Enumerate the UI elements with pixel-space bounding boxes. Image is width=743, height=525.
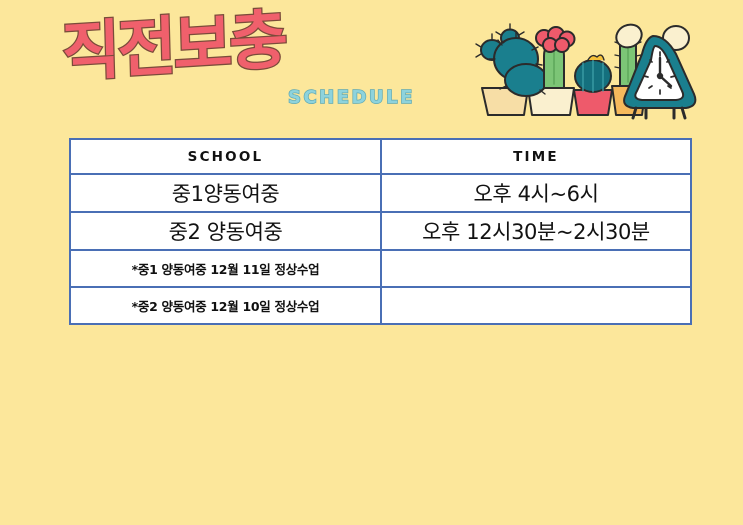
table-row: 중2 양동여중 오후 12시30분~2시30분: [70, 212, 691, 250]
table-row: *중2 양동여중 12월 10일 정상수업: [70, 287, 691, 324]
cell-time-1: 오후 4시~6시: [381, 174, 691, 212]
page-title: 직전보충: [61, 8, 286, 86]
pot-pink: [574, 90, 612, 115]
schedule-subtitle: Schedule: [288, 80, 415, 109]
cactus-and-clock-illustration: [470, 14, 702, 132]
column-header-school: SCHOOL: [70, 139, 381, 174]
cell-time-3: [381, 250, 691, 287]
cell-time-2: 오후 12시30분~2시30분: [381, 212, 691, 250]
clock-bell-left: [613, 21, 646, 52]
cell-note-2: *중2 양동여중 12월 10일 정상수업: [70, 287, 381, 324]
schedule-table: SCHOOL TIME 중1양동여중 오후 4시~6시 중2 양동여중 오후 1…: [69, 138, 692, 325]
cell-note-1: *중1 양동여중 12월 11일 정상수업: [70, 250, 381, 287]
cactus-flower-yellow: [588, 55, 604, 60]
table-row: *중1 양동여중 12월 11일 정상수업: [70, 250, 691, 287]
table-header-row: SCHOOL TIME: [70, 139, 691, 174]
cell-time-4: [381, 287, 691, 324]
schedule-poster: 직전보충 Schedule: [0, 0, 743, 525]
cell-school-2: 중2 양동여중: [70, 212, 381, 250]
poster-title-area: 직전보충: [55, 8, 315, 113]
cell-school-1: 중1양동여중: [70, 174, 381, 212]
column-header-time: TIME: [381, 139, 691, 174]
table-row: 중1양동여중 오후 4시~6시: [70, 174, 691, 212]
flower-pink-5: [555, 38, 569, 52]
